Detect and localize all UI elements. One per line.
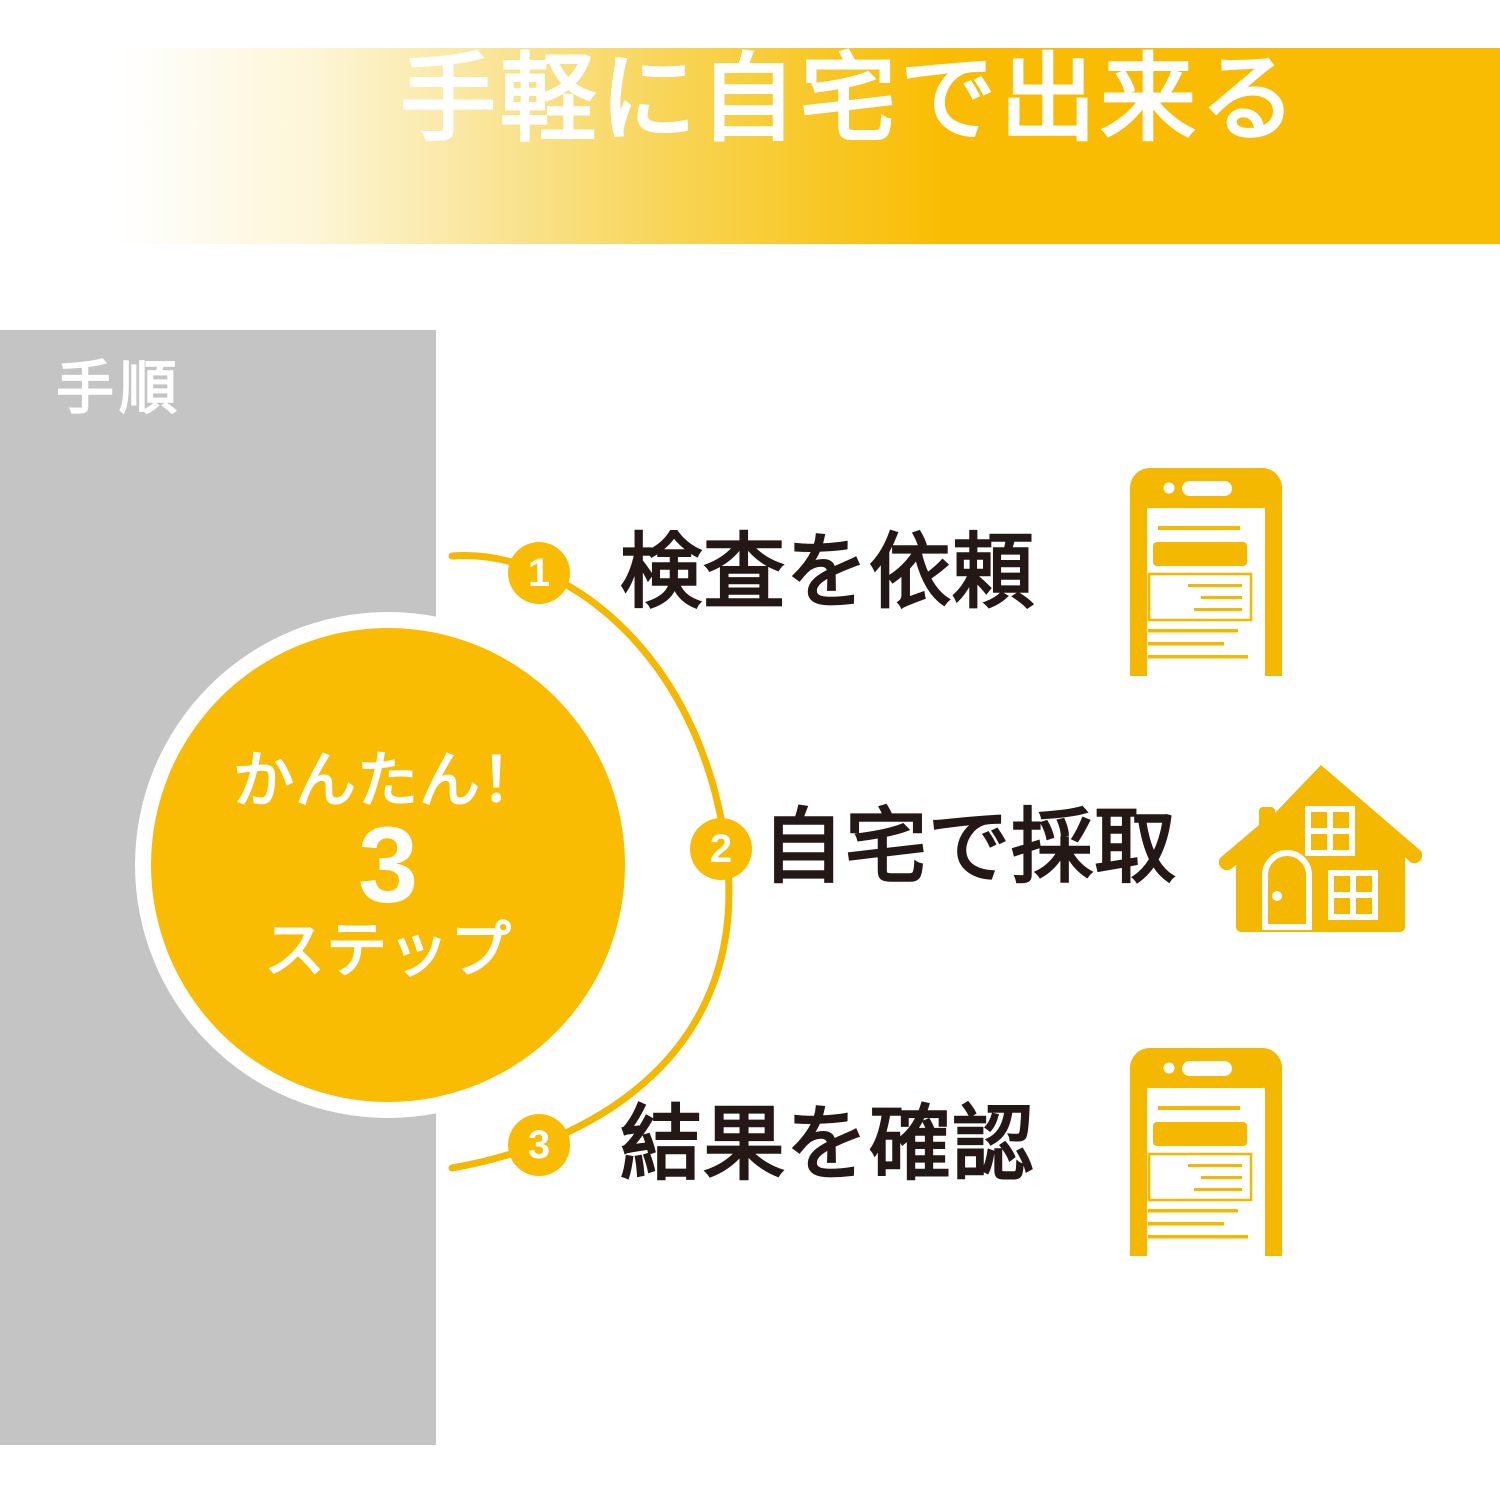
step-badge-3: 3 <box>508 1114 570 1176</box>
infographic-canvas: 手軽に自宅で出来る 手順 かんたん！ 3 ステップ 1 検査を依頼 2 自宅で採… <box>0 0 1500 1500</box>
step-label-3: 結果を確認 <box>620 1100 1035 1190</box>
step-badge-2: 2 <box>690 818 752 880</box>
house-icon <box>1213 755 1428 935</box>
step-label-1: 検査を依頼 <box>620 528 1035 618</box>
smartphone-document-icon <box>1116 466 1296 676</box>
smartphone-document-icon <box>1116 1046 1296 1256</box>
step-label-2: 自宅で採取 <box>762 803 1177 893</box>
center-badge-text: かんたん！ 3 ステップ <box>151 628 625 1102</box>
center-badge-line-3: ステップ <box>264 916 512 984</box>
center-badge-line-2: 3 <box>358 812 418 918</box>
step-badge-1: 1 <box>508 542 570 604</box>
